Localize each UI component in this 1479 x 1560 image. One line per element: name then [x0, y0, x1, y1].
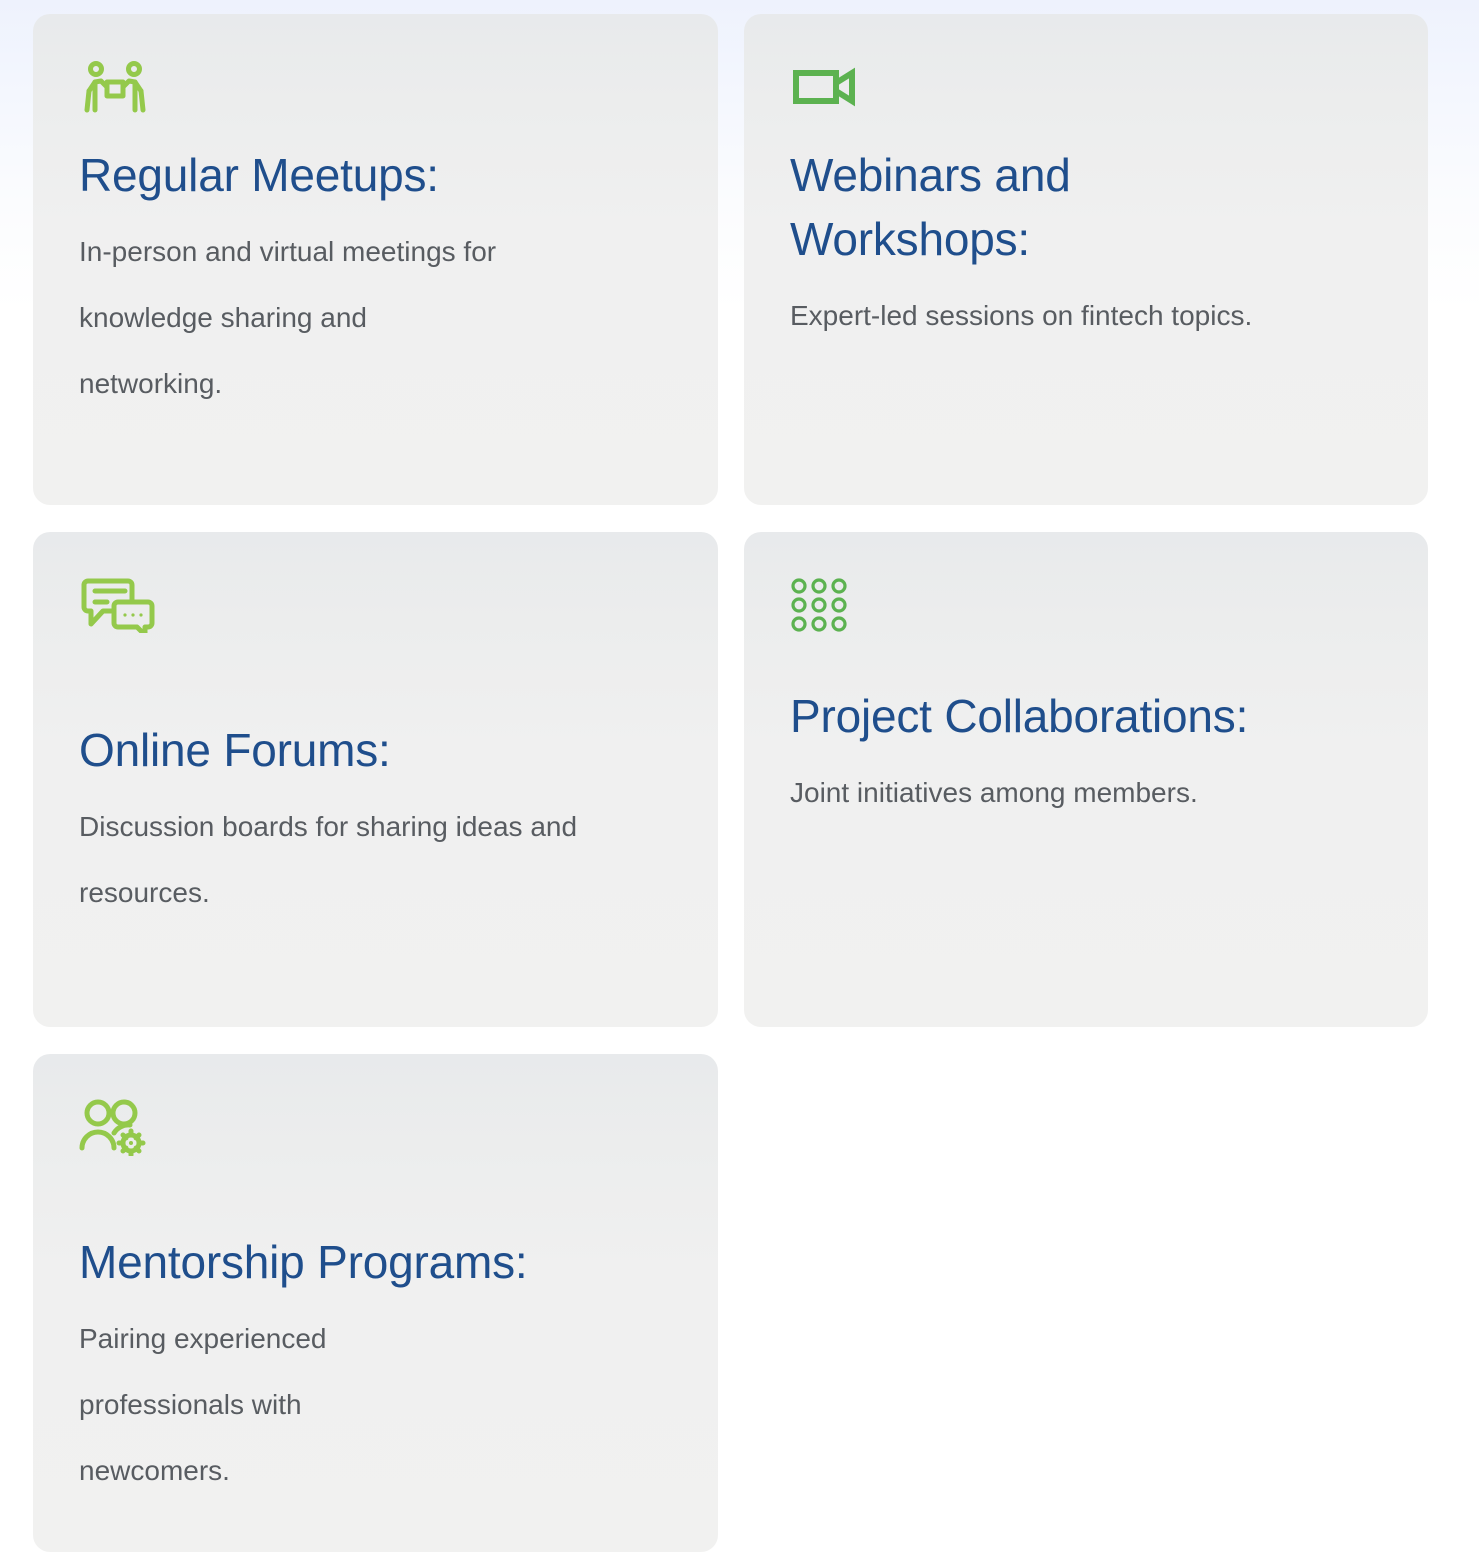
card-body: Pairing experienced professionals with n…: [79, 1306, 439, 1504]
feature-card-project-collaborations[interactable]: Project Collaborations: Joint initiative…: [744, 532, 1428, 1027]
card-body: In-person and virtual meetings for knowl…: [79, 219, 499, 417]
feature-card-grid: Regular Meetups: In-person and virtual m…: [0, 0, 1479, 1552]
feature-card-mentorship-programs[interactable]: Mentorship Programs: Pairing experienced…: [33, 1054, 718, 1552]
card-title: Mentorship Programs:: [79, 1230, 672, 1294]
video-camera-icon: [790, 58, 1382, 116]
card-body: Joint initiatives among members.: [790, 760, 1210, 826]
card-title: Regular Meetups:: [79, 143, 672, 207]
feature-card-online-forums[interactable]: Online Forums: Discussion boards for sha…: [33, 532, 718, 1027]
feature-card-webinars-workshops[interactable]: Webinars and Workshops: Expert-led sessi…: [744, 14, 1428, 505]
card-body: Discussion boards for sharing ideas and …: [79, 794, 599, 926]
card-title: Project Collaborations:: [790, 684, 1382, 748]
dot-grid-icon: [790, 576, 1382, 634]
card-body: Expert-led sessions on fintech topics.: [790, 283, 1310, 349]
people-carrying-box-icon: [79, 58, 672, 116]
card-title: Webinars and Workshops:: [790, 143, 1210, 271]
chat-bubbles-icon: [79, 576, 672, 634]
users-gear-icon: [79, 1098, 672, 1156]
feature-card-regular-meetups[interactable]: Regular Meetups: In-person and virtual m…: [33, 14, 718, 505]
card-title: Online Forums:: [79, 718, 672, 782]
